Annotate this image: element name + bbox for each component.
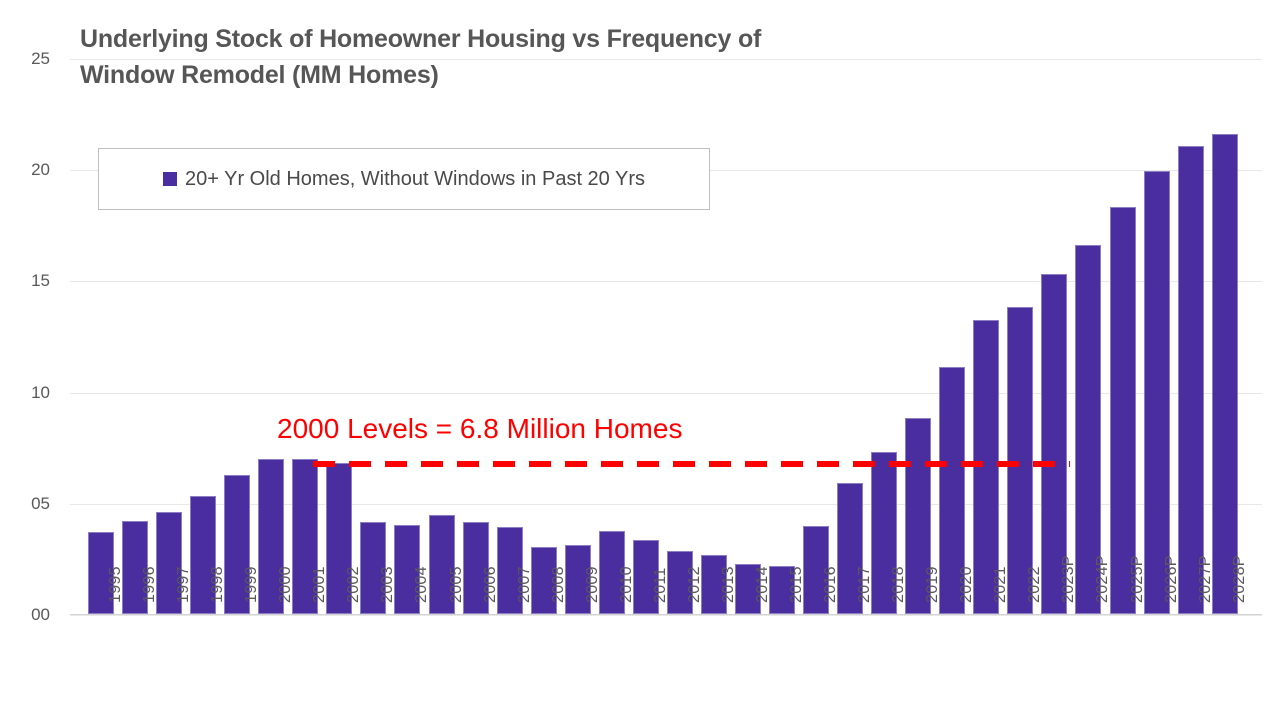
x-axis-tick-label: 2022 bbox=[1026, 566, 1044, 603]
y-axis-tick-label: 25 bbox=[10, 49, 50, 69]
x-axis-tick-label: 2017 bbox=[856, 566, 874, 603]
bar[interactable] bbox=[1178, 146, 1204, 614]
x-axis-tick-label: 2028P bbox=[1231, 555, 1249, 603]
x-axis-tick-label: 2026P bbox=[1163, 555, 1181, 603]
x-axis-tick-label: 2000 bbox=[277, 566, 295, 603]
reference-annotation-label: 2000 Levels = 6.8 Million Homes bbox=[277, 413, 682, 445]
x-axis-tick-label: 2025P bbox=[1129, 555, 1147, 603]
x-axis-tick-label: 2023P bbox=[1060, 555, 1078, 603]
plot-area: 000510152025 199519961997199819992000200… bbox=[70, 59, 1262, 615]
legend-swatch-icon bbox=[163, 172, 177, 186]
x-axis-tick-label: 2024P bbox=[1094, 555, 1112, 603]
x-axis-tick-label: 2001 bbox=[311, 566, 329, 603]
x-axis-tick-label: 1999 bbox=[243, 566, 261, 603]
x-axis-tick-label: 1998 bbox=[209, 566, 227, 603]
x-axis-tick-label: 2012 bbox=[686, 566, 704, 603]
y-axis-tick-label: 05 bbox=[10, 494, 50, 514]
x-axis-tick-label: 2027P bbox=[1197, 555, 1215, 603]
x-axis-tick-label: 2018 bbox=[890, 566, 908, 603]
x-axis-tick-label: 1995 bbox=[107, 566, 125, 603]
x-axis-tick-label: 2016 bbox=[822, 566, 840, 603]
x-axis-tick-label: 1997 bbox=[175, 566, 193, 603]
x-axis-tick-label: 2005 bbox=[448, 566, 466, 603]
x-axis-tick-label: 2011 bbox=[652, 567, 670, 603]
x-axis-tick-label: 2009 bbox=[584, 566, 602, 603]
reference-line-dashed bbox=[313, 461, 1070, 467]
x-axis-tick-label: 2014 bbox=[754, 566, 772, 603]
y-axis-tick-label: 10 bbox=[10, 383, 50, 403]
x-axis-tick-label: 2013 bbox=[720, 566, 738, 603]
x-axis-tick-label: 1996 bbox=[141, 566, 159, 603]
y-axis-tick-label: 00 bbox=[10, 605, 50, 625]
x-axis-tick-label: 2008 bbox=[550, 566, 568, 603]
y-axis-tick-label: 15 bbox=[10, 271, 50, 291]
y-axis-tick-label: 20 bbox=[10, 160, 50, 180]
gridline bbox=[70, 615, 1262, 616]
bar[interactable] bbox=[1144, 171, 1170, 614]
x-axis-tick-label: 2006 bbox=[482, 566, 500, 603]
x-axis-tick-label: 2020 bbox=[958, 566, 976, 603]
bar[interactable] bbox=[1212, 134, 1238, 614]
x-axis-tick-label: 2015 bbox=[788, 566, 806, 603]
x-axis-line bbox=[70, 614, 1262, 615]
x-axis-tick-label: 2019 bbox=[924, 566, 942, 603]
x-axis-tick-label: 2021 bbox=[992, 566, 1010, 603]
x-axis-tick-label: 2003 bbox=[379, 566, 397, 603]
chart-legend[interactable]: 20+ Yr Old Homes, Without Windows in Pas… bbox=[98, 148, 710, 210]
chart-container: Underlying Stock of Homeowner Housing vs… bbox=[0, 0, 1272, 705]
x-axis-tick-label: 2007 bbox=[516, 566, 534, 603]
x-axis-tick-label: 2004 bbox=[413, 566, 431, 603]
x-axis-tick-label: 2010 bbox=[618, 566, 636, 603]
legend-item-label: 20+ Yr Old Homes, Without Windows in Pas… bbox=[185, 168, 645, 191]
bar[interactable] bbox=[1110, 207, 1136, 614]
gridline bbox=[70, 59, 1262, 60]
x-axis-tick-label: 2002 bbox=[345, 566, 363, 603]
